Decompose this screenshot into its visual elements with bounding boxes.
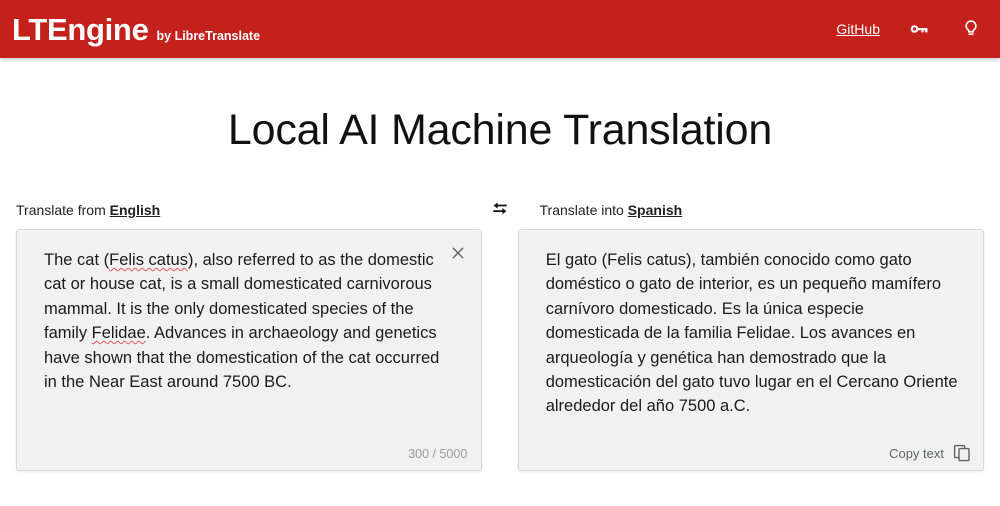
github-link[interactable]: GitHub — [836, 21, 880, 37]
source-textarea[interactable]: The cat (Felis catus), also referred to … — [44, 248, 445, 394]
swap-arrows-icon — [490, 202, 510, 218]
source-text-part-1: The cat ( — [44, 251, 109, 269]
character-counter: 300 / 5000 — [408, 447, 467, 461]
page-title: Local AI Machine Translation — [0, 58, 1000, 155]
copy-icon — [953, 444, 971, 462]
target-panel: El gato (Felis catus), también conocido … — [518, 229, 984, 471]
language-labels-row: Translate from English Translate into Sp… — [16, 199, 984, 221]
brand-subtitle: by LibreTranslate — [157, 30, 261, 43]
translation-panels: The cat (Felis catus), also referred to … — [16, 229, 984, 471]
top-navbar: LTEngine by LibreTranslate GitHub — [0, 0, 1000, 58]
target-label-prefix: Translate into — [540, 202, 624, 218]
brand-logo[interactable]: LTEngine by LibreTranslate — [12, 14, 260, 45]
lightbulb-icon[interactable] — [958, 16, 984, 42]
target-language-select[interactable]: Spanish — [628, 202, 682, 218]
swap-languages-button[interactable] — [482, 202, 517, 218]
key-icon[interactable] — [906, 16, 932, 42]
source-language-select[interactable]: English — [110, 202, 161, 218]
brand-title: LTEngine — [12, 14, 149, 45]
clear-source-button[interactable] — [447, 242, 469, 264]
panel-spacer — [482, 229, 517, 230]
copy-text-button[interactable]: Copy text — [889, 444, 971, 462]
source-text-misspelled-2: Felidae — [92, 324, 146, 342]
source-label-prefix: Translate from — [16, 202, 106, 218]
copy-text-label: Copy text — [889, 446, 944, 461]
target-textarea[interactable]: El gato (Felis catus), también conocido … — [546, 248, 959, 419]
source-language-label: Translate from English — [16, 202, 482, 218]
source-text-misspelled-1: Felis catus — [109, 251, 188, 269]
navbar-actions: GitHub — [836, 16, 984, 42]
source-panel: The cat (Felis catus), also referred to … — [16, 229, 482, 471]
target-language-label: Translate into Spanish — [518, 202, 984, 218]
translate-section: Translate from English Translate into Sp… — [0, 199, 1000, 471]
close-icon — [450, 245, 466, 261]
